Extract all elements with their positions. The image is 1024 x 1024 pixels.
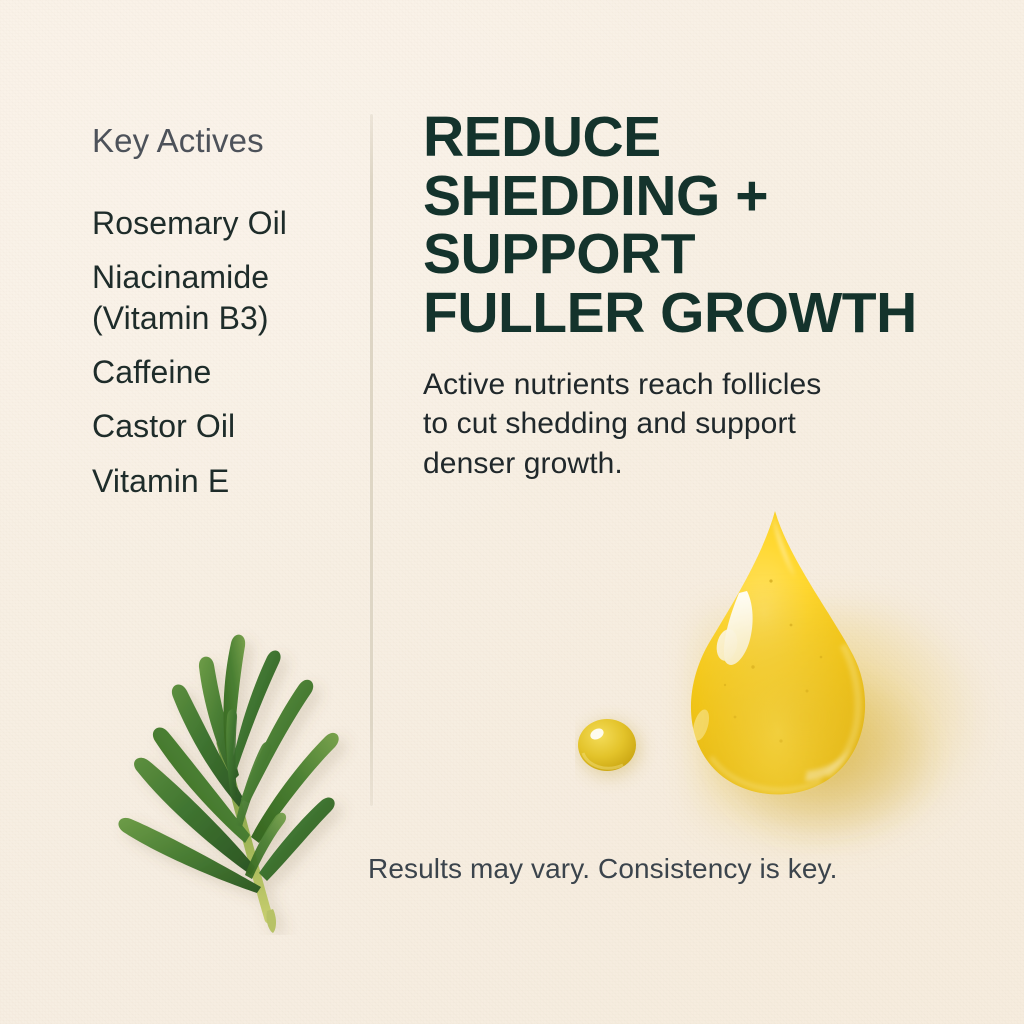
droplet-highlight [724,591,753,665]
droplet-tip-highlight [773,515,795,577]
product-benefit-card: Key Actives Rosemary Oil Niacinamide (Vi… [0,0,1024,1024]
rosemary-leaves [118,635,338,933]
oil-droplet-main [690,511,865,794]
rosemary-sprig-svg [55,575,385,935]
list-item: Niacinamide (Vitamin B3) [92,257,354,338]
list-item: Rosemary Oil [92,203,354,243]
list-item: Castor Oil [92,406,354,446]
key-actives-list: Rosemary Oil Niacinamide (Vitamin B3) Ca… [92,203,354,501]
oil-droplet-svg [575,485,995,855]
key-actives-panel: Key Actives Rosemary Oil Niacinamide (Vi… [92,122,354,515]
list-item: Vitamin E [92,461,354,501]
page-title: REDUCE SHEDDING + SUPPORT FULLER GROWTH [423,108,983,343]
oil-droplet-illustration [575,485,995,855]
list-item: Caffeine [92,352,354,392]
benefit-description: Active nutrients reach follicles to cut … [423,365,983,484]
oil-droplet-small [578,719,640,776]
benefit-copy-panel: REDUCE SHEDDING + SUPPORT FULLER GROWTH … [423,108,983,484]
droplet-shadow [707,663,943,847]
key-actives-heading: Key Actives [92,122,354,161]
disclaimer-text: Results may vary. Consistency is key. [368,852,837,886]
rosemary-sprig-icon [55,575,385,935]
droplet-glow [695,605,985,855]
vertical-divider [370,114,373,806]
